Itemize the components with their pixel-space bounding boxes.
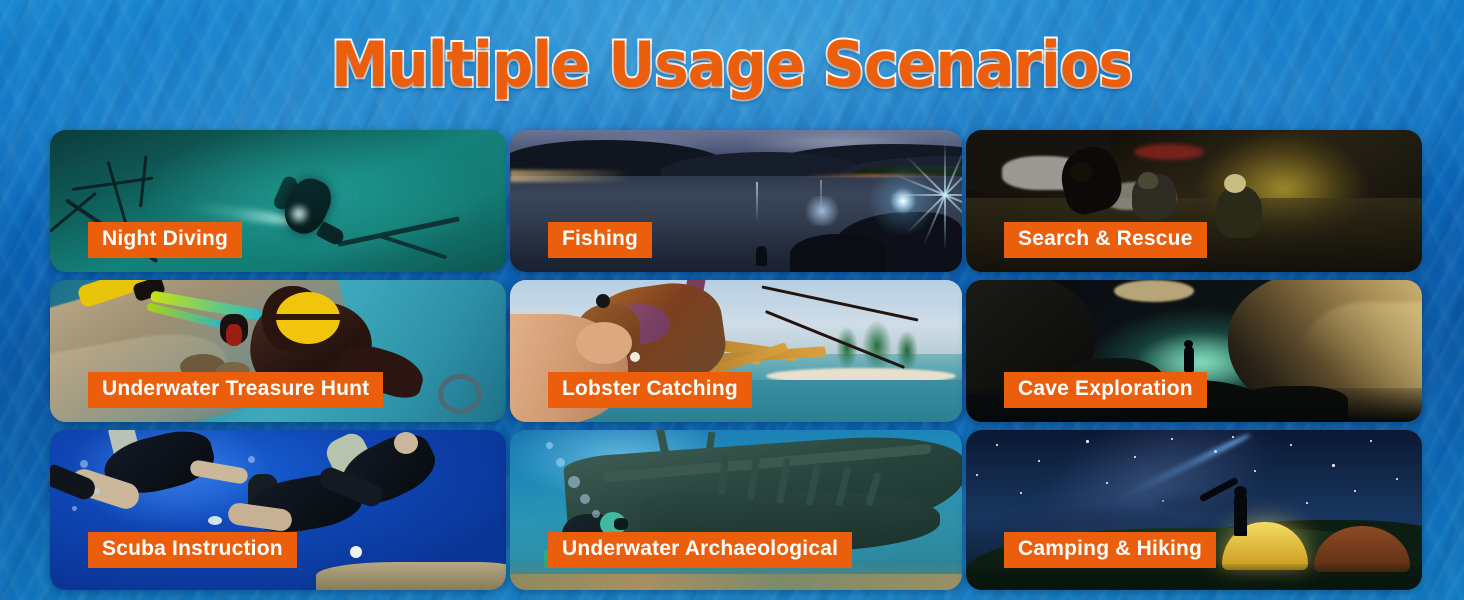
branch-shape <box>107 161 128 225</box>
scenario-card-treasure-hunt[interactable]: Underwater Treasure Hunt <box>50 280 506 422</box>
scenario-label: Fishing <box>548 222 652 258</box>
angler-figure <box>756 246 767 266</box>
star <box>1354 490 1356 492</box>
distant-shore-lights <box>510 170 630 182</box>
star <box>1020 492 1022 494</box>
lit-cave-roof <box>1114 280 1194 302</box>
rescuer-helmet <box>1138 172 1158 189</box>
scenario-card-lobster-catching[interactable]: Lobster Catching <box>510 280 962 422</box>
lobster-eye <box>596 294 610 308</box>
camper-figure <box>1234 494 1247 536</box>
star <box>1171 438 1173 440</box>
page-title: Multiple Usage Scenarios <box>332 28 1133 101</box>
detector-coil <box>438 374 482 414</box>
rescuer-head <box>1070 162 1092 182</box>
star <box>1306 502 1308 504</box>
starburst-light <box>860 158 946 244</box>
scenario-card-search-rescue[interactable]: Search & Rescue <box>966 130 1422 272</box>
air-bubble <box>248 456 255 463</box>
star <box>1332 464 1335 467</box>
scenario-label: Scuba Instruction <box>88 532 297 568</box>
coral-reef <box>316 562 506 590</box>
star <box>1134 456 1136 458</box>
scenario-label: Search & Rescue <box>1004 222 1207 258</box>
banner-title-container: Multiple Usage Scenarios <box>0 28 1464 101</box>
air-bubble <box>94 488 100 494</box>
scenario-label: Night Diving <box>88 222 242 258</box>
lamp-glow <box>286 204 312 224</box>
scenario-label: Lobster Catching <box>548 372 752 408</box>
fish <box>208 516 222 525</box>
usage-scenarios-banner: Multiple Usage Scenarios Night Diving <box>0 0 1464 600</box>
scenario-label: Cave Exploration <box>1004 372 1207 408</box>
air-bubble <box>568 476 580 488</box>
air-bubble <box>592 510 600 518</box>
star <box>1232 436 1234 438</box>
camper-head <box>1234 486 1247 498</box>
light-reflection <box>756 182 758 222</box>
star <box>1086 440 1089 443</box>
star <box>976 474 978 476</box>
scenario-card-cave-exploration[interactable]: Cave Exploration <box>966 280 1422 422</box>
reef-band <box>510 574 962 590</box>
diver-mask <box>614 518 628 530</box>
palm-tree <box>862 320 892 372</box>
scenario-card-scuba-instruction[interactable]: Scuba Instruction <box>50 430 506 590</box>
caver-head <box>1184 340 1193 348</box>
star <box>1106 482 1108 484</box>
star <box>1254 470 1256 472</box>
red-equipment <box>1134 144 1204 160</box>
scenario-card-camping-hiking[interactable]: Camping & Hiking <box>966 430 1422 590</box>
lobster-eye <box>630 352 640 362</box>
air-bubble <box>556 458 565 467</box>
caver-figure <box>1184 346 1194 372</box>
rescuer-figure <box>1216 186 1262 238</box>
air-bubble <box>580 494 590 504</box>
air-bubble <box>546 442 553 449</box>
star <box>996 444 998 446</box>
scenario-label: Underwater Archaeological <box>548 532 852 568</box>
star <box>1290 444 1292 446</box>
air-bubble <box>80 460 88 468</box>
star <box>1396 478 1398 480</box>
star <box>1370 440 1372 442</box>
thumb <box>576 322 632 364</box>
rescuer-helmet <box>1224 174 1246 193</box>
star <box>1038 460 1040 462</box>
scenario-label: Camping & Hiking <box>1004 532 1216 568</box>
angler-lamp-glow <box>802 196 842 226</box>
branch-shape <box>379 234 447 259</box>
scenario-label: Underwater Treasure Hunt <box>88 372 383 408</box>
tank-strap <box>276 314 340 320</box>
scenario-card-underwater-archaeological[interactable]: Underwater Archaeological <box>510 430 962 590</box>
scenario-card-fishing[interactable]: Fishing <box>510 130 962 272</box>
diver-head <box>394 432 418 454</box>
cloud-shape <box>1152 496 1272 516</box>
air-bubble <box>72 506 77 511</box>
fish <box>350 546 362 558</box>
detector-handle <box>226 324 242 346</box>
scenario-grid: Night Diving <box>50 130 1418 590</box>
scenario-card-night-diving[interactable]: Night Diving <box>50 130 506 272</box>
